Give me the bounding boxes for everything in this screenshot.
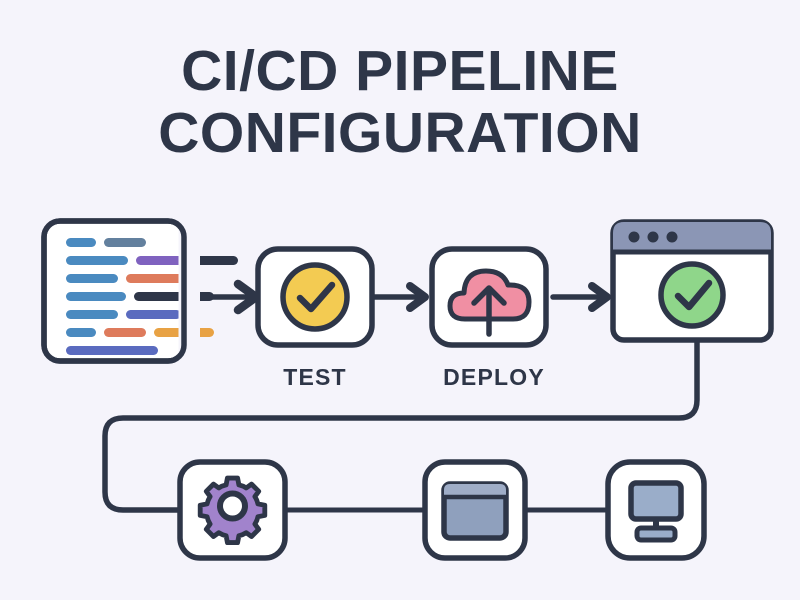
browser-dot-icon — [648, 232, 659, 243]
stage-result-card[interactable] — [613, 222, 771, 340]
code-line-segment — [66, 274, 118, 283]
stage-label-test: TEST — [283, 364, 347, 390]
code-line-segment — [66, 328, 96, 337]
bottom-node-workstation[interactable] — [608, 462, 704, 558]
stage-test-card[interactable] — [258, 249, 372, 345]
browser-dot-icon — [629, 232, 640, 243]
gear-icon — [200, 478, 265, 543]
code-line-segment — [126, 310, 181, 319]
check-circle-icon — [283, 265, 347, 329]
code-line-segment — [66, 256, 128, 265]
code-line-segment — [66, 310, 118, 319]
monitor-stand-base — [637, 528, 675, 540]
desktop-monitor-icon — [631, 483, 681, 519]
code-line-segment — [66, 292, 126, 301]
bottom-node-settings[interactable] — [180, 462, 285, 558]
success-circle-icon — [661, 264, 723, 326]
code-line-segment — [194, 256, 238, 265]
arrow-deploy-to-result — [553, 286, 607, 308]
bottom-node-panel[interactable] — [425, 462, 525, 558]
code-line-segment — [104, 238, 146, 247]
stage-source-card[interactable] — [44, 221, 238, 361]
browser-dot-icon — [667, 232, 678, 243]
gear-hub — [220, 494, 245, 519]
stage-deploy-card[interactable] — [432, 249, 546, 345]
code-line-segment — [66, 238, 96, 247]
cicd-pipeline-diagram: TEST DEPLOY — [0, 0, 800, 600]
code-line-segment — [66, 346, 158, 355]
stage-label-deploy: DEPLOY — [443, 364, 545, 390]
code-line-segment — [134, 292, 214, 301]
illustration-canvas: CI/CD PIPELINE CONFIGURATION — [0, 0, 800, 600]
code-line-segment — [104, 328, 146, 337]
arrow-test-to-deploy — [372, 286, 425, 308]
